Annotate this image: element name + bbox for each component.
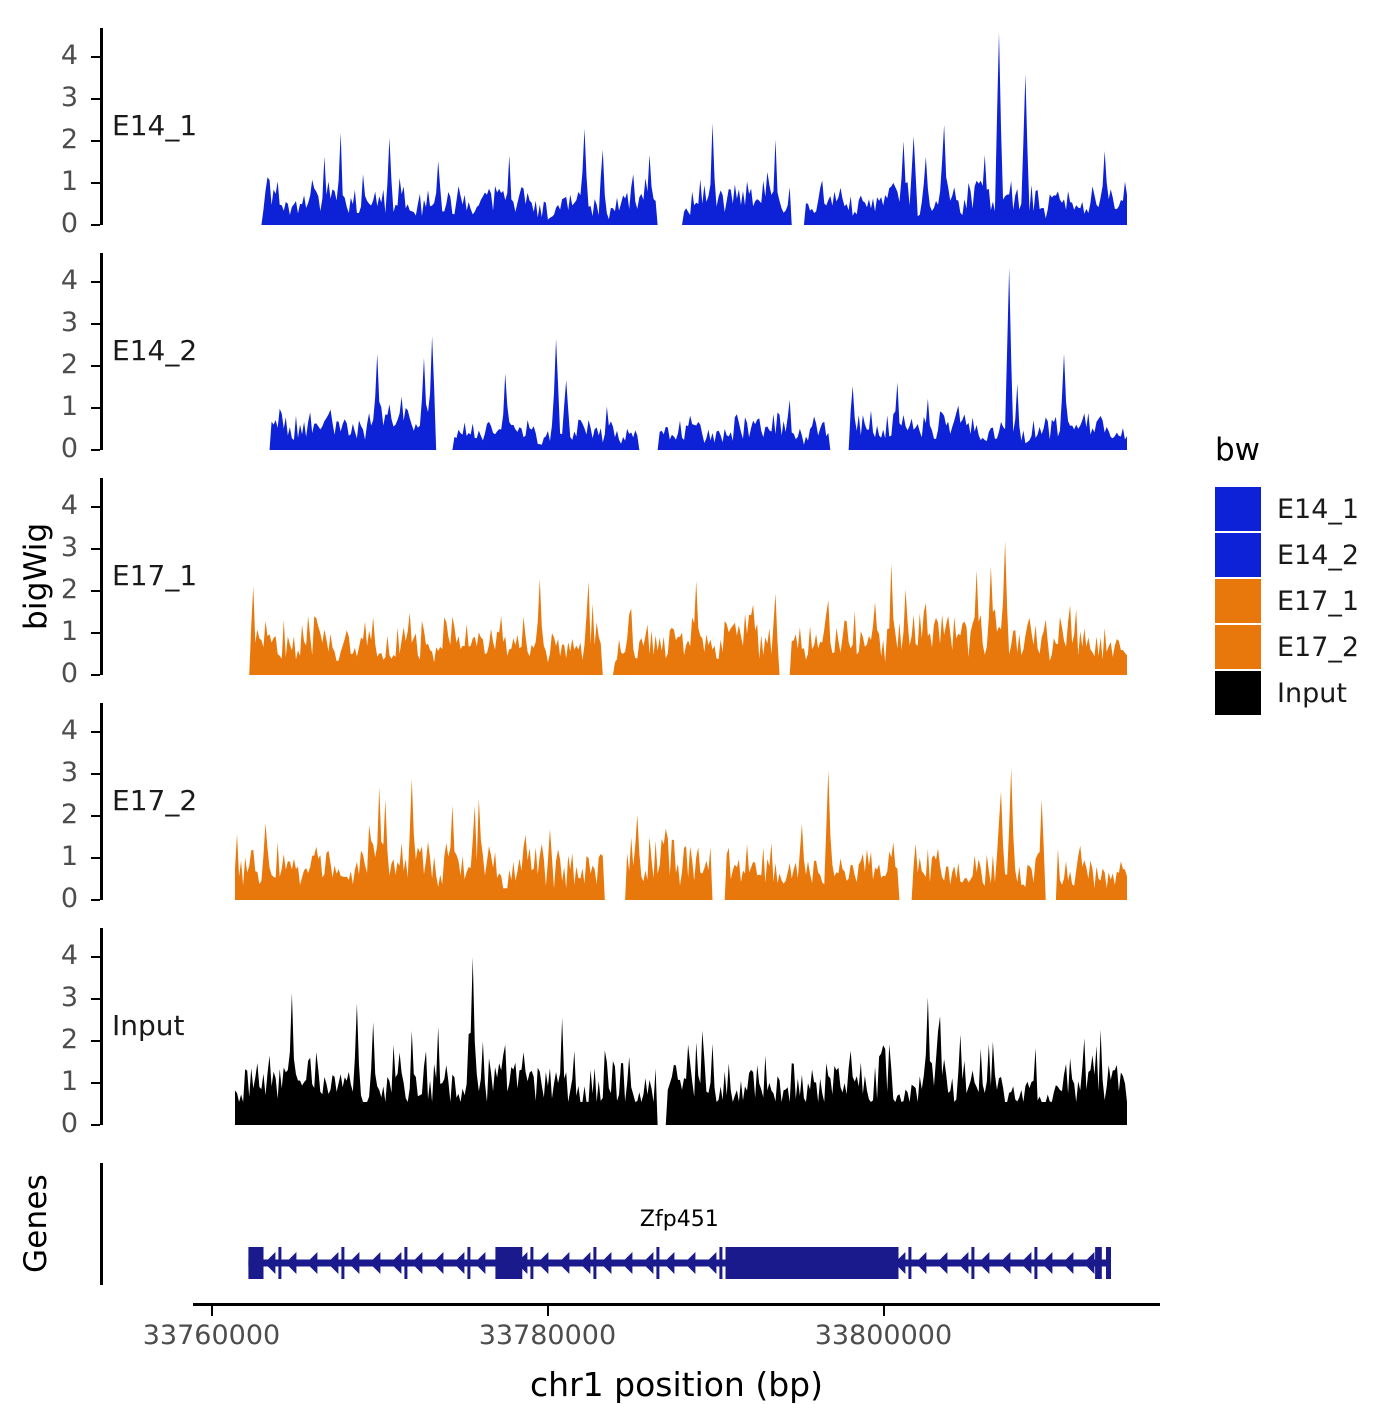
legend-swatch-input <box>1215 671 1261 715</box>
legend-swatch-e14_1 <box>1215 487 1261 531</box>
y-tick-label: 4 <box>38 492 78 519</box>
y-tick-mark <box>91 899 100 901</box>
y-tick-mark <box>91 590 100 592</box>
signal-area-e14_2 <box>100 253 1160 450</box>
y-tick-mark <box>91 56 100 58</box>
signal-area-e14_1 <box>100 28 1160 225</box>
legend-item-input[interactable]: Input <box>1215 670 1359 716</box>
x-tick-label: 33760000 <box>101 1320 321 1351</box>
y-tick-label: 4 <box>38 267 78 294</box>
legend-item-e14_1[interactable]: E14_1 <box>1215 486 1359 532</box>
x-tick-label: 33780000 <box>437 1320 657 1351</box>
y-tick-label: 0 <box>38 435 78 462</box>
legend-title: bw <box>1215 432 1359 468</box>
y-tick-label: 3 <box>38 759 78 786</box>
x-tick-label: 33800000 <box>773 1320 993 1351</box>
y-tick-label: 2 <box>38 351 78 378</box>
y-tick-label: 1 <box>38 618 78 645</box>
y-axis-strip-label-genes: Genes <box>18 1163 54 1285</box>
y-tick-mark <box>91 506 100 508</box>
x-axis-line <box>193 1303 1160 1306</box>
y-tick-mark <box>91 365 100 367</box>
y-tick-label: 3 <box>38 309 78 336</box>
legend-item-e17_2[interactable]: E17_2 <box>1215 624 1359 670</box>
y-tick-mark <box>91 281 100 283</box>
y-tick-label: 2 <box>38 1026 78 1053</box>
y-tick-label: 4 <box>38 942 78 969</box>
y-tick-label: 1 <box>38 843 78 870</box>
x-axis-title: chr1 position (bp) <box>193 1365 1160 1404</box>
y-tick-mark <box>91 632 100 634</box>
legend-label-e17_1: E17_1 <box>1277 586 1359 617</box>
legend: bw E14_1E14_2E17_1E17_2Input <box>1215 432 1359 716</box>
y-tick-mark <box>91 407 100 409</box>
y-tick-label: 1 <box>38 168 78 195</box>
legend-label-input: Input <box>1277 678 1347 709</box>
y-tick-mark <box>91 1082 100 1084</box>
y-tick-label: 1 <box>38 393 78 420</box>
y-tick-mark <box>91 449 100 451</box>
y-tick-label: 4 <box>38 42 78 69</box>
legend-label-e14_2: E14_2 <box>1277 540 1359 571</box>
y-tick-mark <box>91 857 100 859</box>
y-tick-mark <box>91 1124 100 1126</box>
y-tick-mark <box>91 140 100 142</box>
y-tick-label: 3 <box>38 984 78 1011</box>
y-tick-label: 1 <box>38 1068 78 1095</box>
y-tick-label: 2 <box>38 801 78 828</box>
x-tick-mark <box>547 1306 549 1316</box>
y-tick-mark <box>91 224 100 226</box>
y-tick-label: 2 <box>38 126 78 153</box>
signal-area-e17_2 <box>100 703 1160 900</box>
y-tick-label: 0 <box>38 885 78 912</box>
y-tick-mark <box>91 731 100 733</box>
y-tick-mark <box>91 674 100 676</box>
genome-browser-figure: bigWig Genes 01234E14_101234E14_201234E1… <box>0 0 1400 1400</box>
y-tick-mark <box>91 956 100 958</box>
legend-swatch-e17_1 <box>1215 579 1261 623</box>
y-tick-label: 2 <box>38 576 78 603</box>
y-tick-mark <box>91 548 100 550</box>
y-tick-mark <box>91 182 100 184</box>
y-tick-label: 4 <box>38 717 78 744</box>
y-tick-mark <box>91 815 100 817</box>
x-tick-mark <box>883 1306 885 1316</box>
y-tick-mark <box>91 998 100 1000</box>
y-tick-label: 3 <box>38 84 78 111</box>
gene-model-zfp451[interactable] <box>100 1240 1160 1286</box>
y-tick-mark <box>91 1040 100 1042</box>
y-tick-mark <box>91 98 100 100</box>
y-tick-mark <box>91 323 100 325</box>
signal-area-e17_1 <box>100 478 1160 675</box>
legend-label-e17_2: E17_2 <box>1277 632 1359 663</box>
y-tick-mark <box>91 773 100 775</box>
y-tick-label: 0 <box>38 1110 78 1137</box>
legend-item-e17_1[interactable]: E17_1 <box>1215 578 1359 624</box>
legend-swatch-e14_2 <box>1215 533 1261 577</box>
y-tick-label: 3 <box>38 534 78 561</box>
gene-label: Zfp451 <box>529 1207 829 1232</box>
y-tick-label: 0 <box>38 660 78 687</box>
legend-swatch-e17_2 <box>1215 625 1261 669</box>
x-tick-mark <box>211 1306 213 1316</box>
legend-label-e14_1: E14_1 <box>1277 494 1359 525</box>
signal-area-input <box>100 928 1160 1125</box>
y-tick-label: 0 <box>38 210 78 237</box>
legend-item-e14_2[interactable]: E14_2 <box>1215 532 1359 578</box>
